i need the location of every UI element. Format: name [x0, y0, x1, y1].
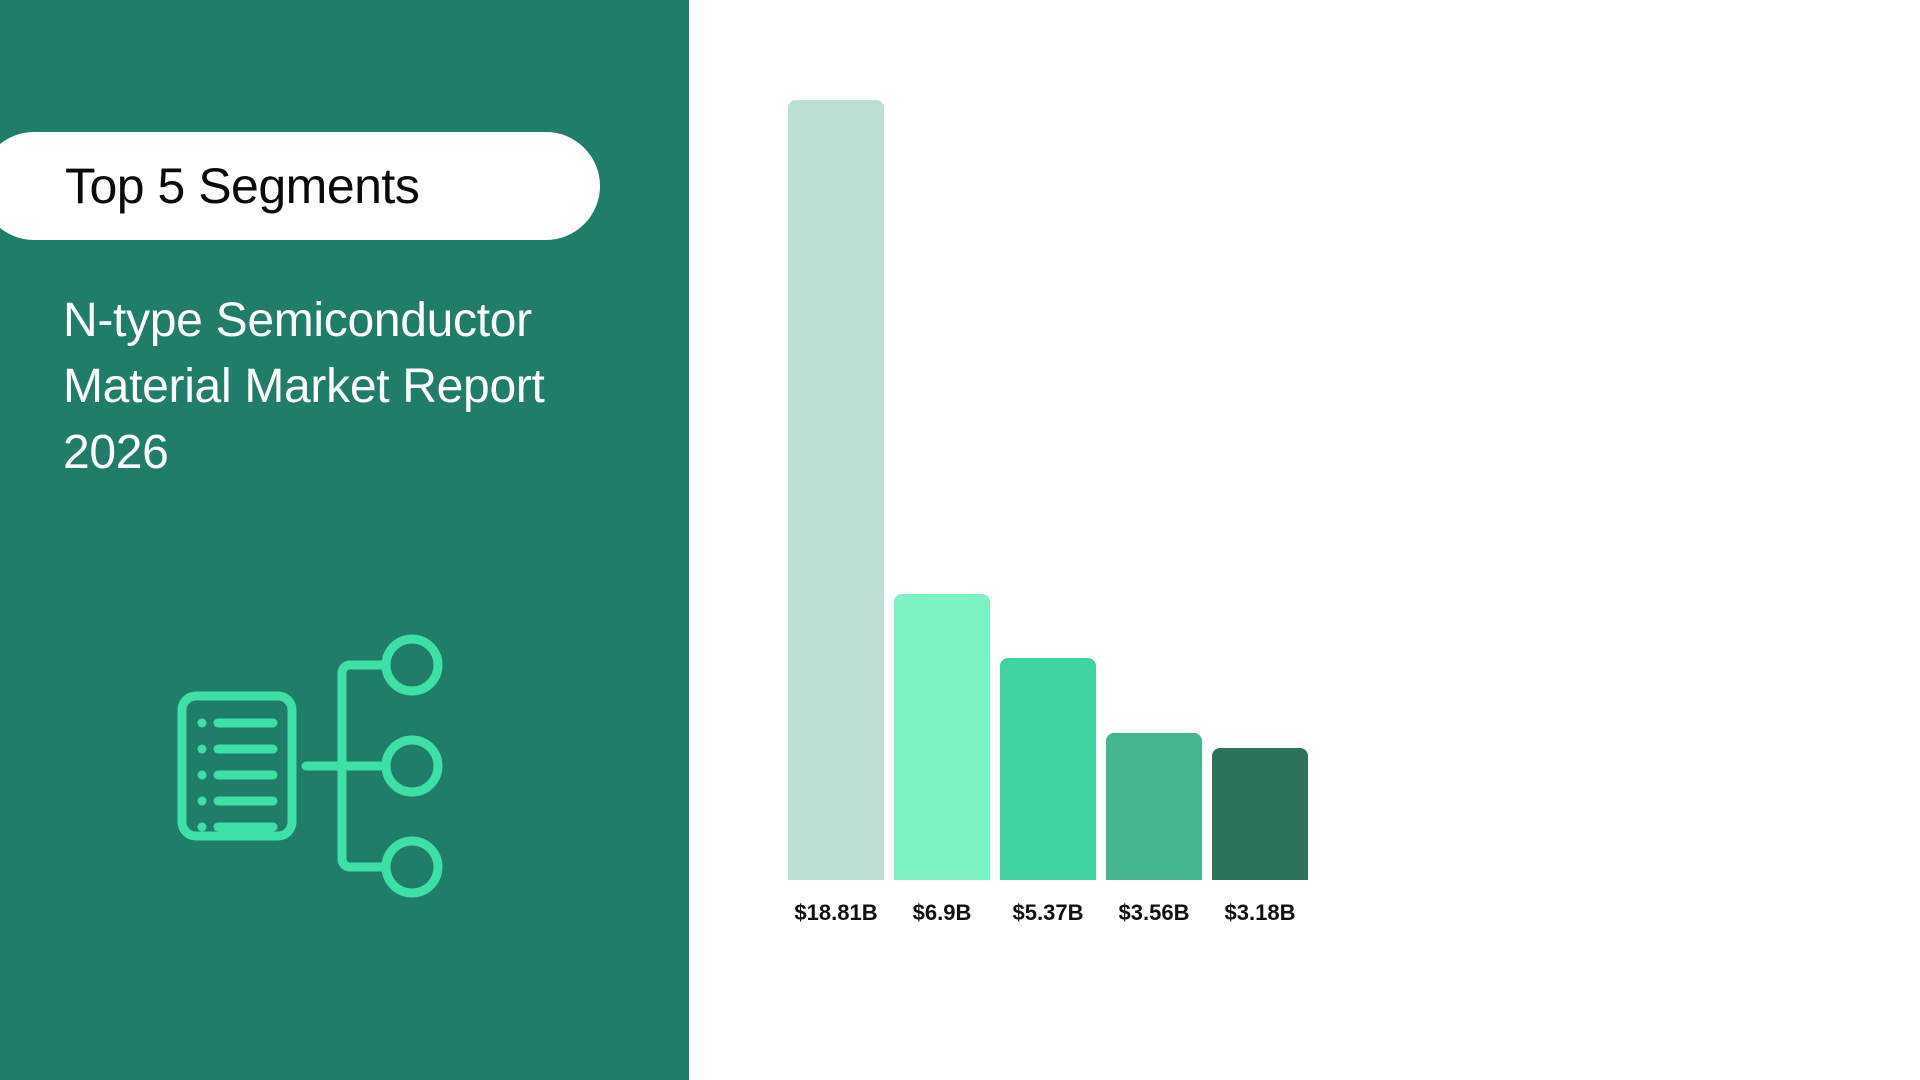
bar-value-label: $5.37B	[1000, 900, 1096, 934]
bar-silicon	[788, 100, 884, 880]
bar-value-label: $3.56B	[1106, 900, 1202, 934]
top-segments-badge-label: Top 5 Segments	[65, 157, 419, 215]
left-panel: Top 5 Segments N-type Semiconductor Mate…	[0, 0, 689, 1080]
document-branch-illustration	[160, 610, 480, 910]
bar-value-label: $18.81B	[788, 900, 884, 934]
bar-column	[1212, 100, 1308, 880]
top-segments-badge: Top 5 Segments	[0, 132, 600, 240]
bar-value-label: $3.18B	[1212, 900, 1308, 934]
report-title: N-type Semiconductor Material Market Rep…	[63, 288, 583, 487]
bar-gallium-arsenide	[894, 594, 990, 880]
bar-germanium	[1106, 733, 1202, 880]
document-branch-icon	[160, 610, 480, 910]
bar-value-labels: $18.81B $6.9B $5.37B $3.56B $3.18B	[788, 900, 1333, 934]
bar-chart	[788, 100, 1308, 880]
bar-value-label: $6.9B	[894, 900, 990, 934]
chart-area: $18.81B $6.9B $5.37B $3.56B $3.18B	[689, 0, 1920, 1080]
bar-other-material-types	[1212, 748, 1308, 880]
infographic-root: Top 5 Segments N-type Semiconductor Mate…	[0, 0, 1920, 1080]
bar-column	[788, 100, 884, 880]
bar-column	[1000, 100, 1096, 880]
bar-column	[1106, 100, 1202, 880]
bar-column	[894, 100, 990, 880]
bar-silicon-carbide	[1000, 658, 1096, 880]
